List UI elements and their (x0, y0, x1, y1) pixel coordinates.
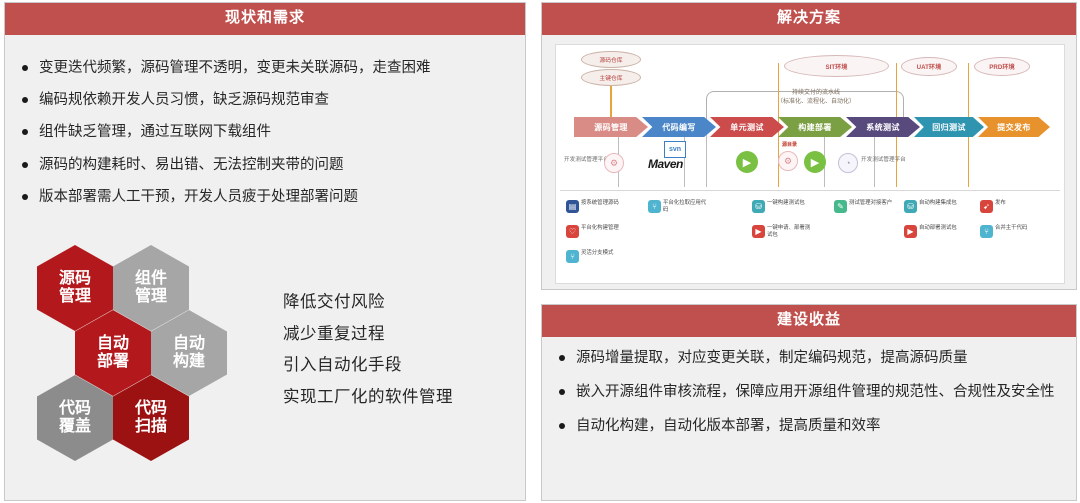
stage-label: 系统测试 (866, 122, 900, 133)
feature-label: 发布 (995, 200, 1006, 207)
maven-logo: Maven (648, 157, 683, 171)
feature-label: 合并主干代码 (995, 225, 1027, 232)
hexagon-label-line2: 部署 (97, 353, 129, 371)
panel-benefit-title: 建设收益 (542, 305, 1076, 337)
goal-item: 减少重复过程 (283, 319, 453, 351)
branch-icon: ⑂ (566, 250, 579, 263)
gauge-icon: ◔ (838, 153, 858, 173)
stage-code-writing: 代码编写 (642, 117, 716, 137)
play-icon: ▶ (904, 225, 917, 238)
env-ellipse-sit: SIT环境 (784, 55, 889, 77)
feature-item-4: ⛁ 一键构建测试包 (752, 200, 805, 213)
grid-icon: ▤ (566, 200, 579, 213)
repo-ellipse-build: 主键仓库 (581, 69, 641, 86)
slide-root: 现状和需求 变更迭代频繁，源码管理不透明，变更未关联源码，走查困难 编码规依赖开… (0, 0, 1080, 503)
panel-benefit-body: 源码增量提取，对应变更关联，制定编码规范，提高源码质量 嵌入开源组件审核流程，保… (542, 337, 1076, 460)
play-icon: ▶ (804, 151, 826, 173)
feature-item-8: ▶ 自动部署测试包 (904, 225, 957, 238)
env-ellipse-uat: UAT环境 (901, 57, 957, 76)
list-item: 版本部署需人工干预，开发人员疲于处理部署问题 (19, 186, 511, 208)
repo-ellipse-source: 源码仓库 (581, 51, 641, 68)
hexagon-label-line1: 源码 (59, 270, 91, 288)
package-icon: ⛁ (904, 200, 917, 213)
feature-label: 灵活分支模式 (581, 250, 613, 257)
pipeline-caption-line1: 持续交付的流水线 (751, 89, 881, 97)
goals-list: 降低交付风险 减少重复过程 引入自动化手段 实现工厂化的软件管理 (283, 287, 453, 414)
list-item: 嵌入开源组件审核流程，保障应用开源组件管理的规范性、合规性及安全性 (556, 381, 1062, 404)
feature-label: 自动部署测试包 (919, 225, 957, 232)
hexagon-label-line2: 管理 (135, 288, 167, 306)
feature-item-6: ✎ 测试管理对接客户 (834, 200, 892, 213)
feature-item-2: ⑂ 灵活分支模式 (566, 250, 613, 263)
hexagon-label-line1: 组件 (135, 270, 167, 288)
hexagon-label-line1: 代码 (59, 400, 91, 418)
branch-icon: ⑂ (980, 225, 993, 238)
stage-label: 提交发布 (997, 122, 1031, 133)
hexagon-label-line1: 自动 (173, 335, 205, 353)
list-item: 变更迭代频繁，源码管理不透明，变更未关联源码，走查困难 (19, 57, 511, 79)
stage-label: 单元测试 (730, 122, 764, 133)
stage-source-management: 源码管理 (574, 117, 648, 137)
feature-item-0: ▤ 按系统管理源码 (566, 200, 619, 213)
hexagon-cluster: 源码 管理 组件 管理 自动 部署 自动 构建 代码 覆盖 代码 扫描 (23, 239, 273, 479)
feature-item-9: ➹ 发布 (980, 200, 1006, 213)
panel-benefit: 建设收益 源码增量提取，对应变更关联，制定编码规范，提高源码质量 嵌入开源组件审… (541, 304, 1077, 501)
branch-icon: ⑂ (648, 200, 661, 213)
hexagon-label-line2: 构建 (173, 353, 205, 371)
hexagon-label-line1: 代码 (135, 400, 167, 418)
edit-icon: ✎ (834, 200, 847, 213)
feature-item-1: ♡ 平台化构建管理 (566, 225, 619, 238)
feature-item-5: ▶ 一键申请、部署测试包 (752, 225, 813, 239)
svn-logo: svn (664, 141, 686, 158)
stage-label: 代码编写 (662, 122, 696, 133)
goal-item: 降低交付风险 (283, 287, 453, 319)
feature-label: 一键申请、部署测试包 (767, 225, 813, 239)
feature-label: 自动构建集成包 (919, 200, 957, 207)
platform-label-right: 开发测试管理平台 (861, 157, 906, 165)
list-item: 编码规依赖开发人员习惯，缺乏源码规范审查 (19, 89, 511, 111)
heart-icon: ♡ (566, 225, 579, 238)
feature-item-7: ⛁ 自动构建集成包 (904, 200, 957, 213)
list-item: 源码的构建耗时、易出错、无法控制夹带的问题 (19, 154, 511, 176)
repo-tag: 源目录 (782, 141, 797, 148)
cicd-pipeline-diagram: 源码仓库 主键仓库 SIT环境 UAT环境 PRD环境 持续交付的流水线 （标准… (555, 44, 1065, 284)
stage-submit-release: 提交发布 (978, 117, 1050, 137)
stage-regression-test: 回归测试 (914, 117, 984, 137)
play-icon: ▶ (736, 151, 758, 173)
gear-icon: ⚙ (604, 153, 624, 173)
panel-current-status-body: 变更迭代频繁，源码管理不透明，变更未关联源码，走查困难 编码规依赖开发人员习惯，… (5, 35, 525, 229)
feature-item-3: ⑂ 平台化拉取应用代码 (648, 200, 709, 214)
package-icon: ⛁ (752, 200, 765, 213)
stage-unit-test: 单元测试 (710, 117, 784, 137)
repo-connector-line (610, 86, 612, 120)
panel-solution-title: 解决方案 (542, 3, 1076, 35)
play-icon: ▶ (752, 225, 765, 238)
stage-system-test: 系统测试 (846, 117, 920, 137)
hexagon-label-line2: 覆盖 (59, 418, 91, 436)
goal-item: 实现工厂化的软件管理 (283, 382, 453, 414)
feature-label: 一键构建测试包 (767, 200, 805, 207)
pipeline-caption-line2: （标准化、流程化、自动化） (751, 98, 881, 106)
benefit-bullet-list: 源码增量提取，对应变更关联，制定编码规范，提高源码质量 嵌入开源组件审核流程，保… (556, 347, 1062, 439)
gear-icon: ⚙ (778, 151, 798, 171)
stage-label: 源码管理 (594, 122, 628, 133)
list-item: 组件缺乏管理，通过互联网下载组件 (19, 121, 511, 143)
feature-label: 测试管理对接客户 (849, 200, 892, 207)
hexagon-label-line2: 管理 (59, 288, 91, 306)
feature-label: 平台化拉取应用代码 (663, 200, 709, 214)
goal-item: 引入自动化手段 (283, 350, 453, 382)
rocket-icon: ➹ (980, 200, 993, 213)
list-item: 源码增量提取，对应变更关联，制定编码规范，提高源码质量 (556, 347, 1062, 370)
panel-current-status: 现状和需求 变更迭代频繁，源码管理不透明，变更未关联源码，走查困难 编码规依赖开… (4, 2, 526, 501)
stage-build-deploy: 构建部署 (778, 117, 852, 137)
env-ellipse-prd: PRD环境 (974, 57, 1030, 76)
hexagon-label-line1: 自动 (97, 335, 129, 353)
current-status-bullet-list: 变更迭代频繁，源码管理不透明，变更未关联源码，走查困难 编码规依赖开发人员习惯，… (19, 57, 511, 209)
list-item: 自动化构建，自动化版本部署，提高质量和效率 (556, 415, 1062, 438)
panel-current-status-title: 现状和需求 (5, 3, 525, 35)
stage-label: 构建部署 (798, 122, 832, 133)
feature-label: 按系统管理源码 (581, 200, 619, 207)
section-divider (560, 190, 1060, 191)
feature-item-10: ⑂ 合并主干代码 (980, 225, 1027, 238)
hexagon-label-line2: 扫描 (135, 418, 167, 436)
platform-label-left: 开发测试管理平台 (564, 157, 609, 165)
stage-label: 回归测试 (932, 122, 966, 133)
feature-label: 平台化构建管理 (581, 225, 619, 232)
